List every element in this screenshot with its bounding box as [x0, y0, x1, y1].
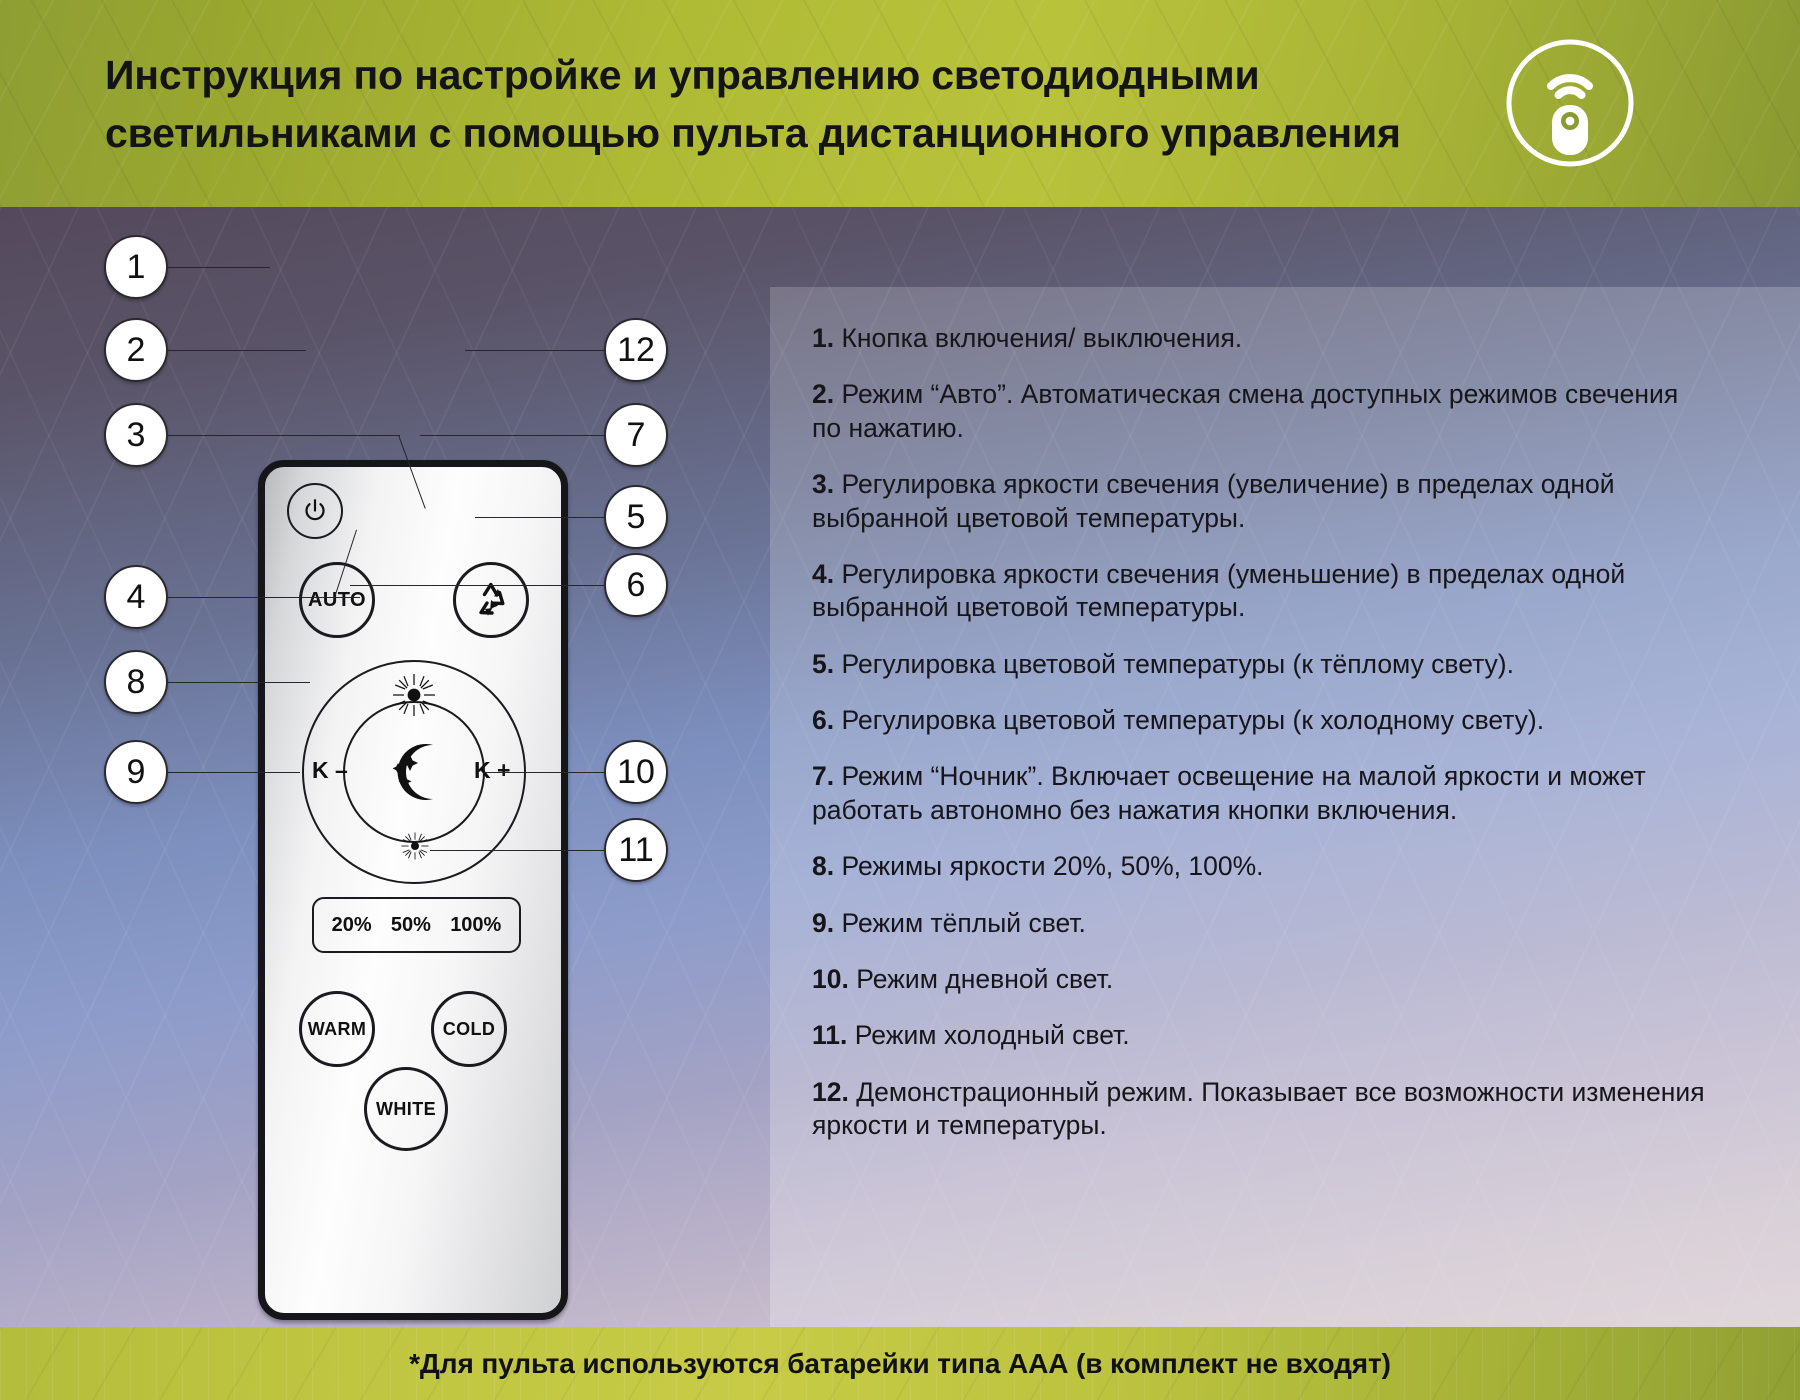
instruction-text-1: Кнопка включения/ выключения. [841, 323, 1242, 353]
leader-line-11 [430, 850, 610, 851]
brightness-preset-group[interactable]: 20% 50% 100% [312, 897, 521, 953]
instruction-item-10: 10. Режим дневной свет. [812, 963, 1712, 996]
leader-line-4 [160, 597, 360, 598]
remote-control-signal-icon [1495, 28, 1645, 178]
brightness-preset-100[interactable]: 100% [450, 914, 501, 937]
callout-marker-7[interactable]: 7 [604, 403, 668, 467]
callout-marker-2[interactable]: 2 [104, 318, 168, 382]
brightness-up-button[interactable] [391, 672, 437, 718]
leader-line-10 [484, 772, 608, 773]
header-bar: Инструкция по настройке и управлению све… [0, 0, 1800, 207]
callout-marker-10[interactable]: 10 [604, 740, 668, 804]
instruction-text-9: Режим тёплый свет. [841, 908, 1085, 938]
instruction-number-8: 8. [812, 851, 834, 881]
instruction-number-11: 11. [812, 1020, 847, 1050]
instruction-text-12: Демонстрационный режим. Показывает все в… [812, 1077, 1705, 1140]
brightness-preset-50[interactable]: 50% [391, 914, 431, 937]
callout-marker-1[interactable]: 1 [104, 235, 168, 299]
instruction-item-3: 3. Регулировка яркости свечения (увеличе… [812, 468, 1712, 535]
white-light-button[interactable]: WHITE [364, 1067, 448, 1151]
leader-line-3 [160, 435, 400, 436]
instruction-text-8: Режимы яркости 20%, 50%, 100%. [841, 851, 1263, 881]
instruction-item-6: 6. Регулировка цветовой температуры (к х… [812, 704, 1712, 737]
warm-button-label: WARM [308, 1019, 367, 1040]
footer-bar: *Для пульта используются батарейки типа … [0, 1327, 1800, 1400]
callout-marker-6[interactable]: 6 [604, 553, 668, 617]
leader-line-2 [160, 350, 306, 351]
instruction-text-10: Режим дневной свет. [856, 964, 1113, 994]
callout-marker-9[interactable]: 9 [104, 740, 168, 804]
brightness-preset-20[interactable]: 20% [332, 914, 372, 937]
instruction-text-5: Регулировка цветовой температуры (к тёпл… [841, 649, 1513, 679]
callout-marker-4[interactable]: 4 [104, 565, 168, 629]
instruction-item-1: 1. Кнопка включения/ выключения. [812, 322, 1712, 355]
callout-marker-5[interactable]: 5 [604, 485, 668, 549]
leader-line-12 [465, 350, 605, 351]
leader-line-1 [160, 267, 270, 268]
main-content-area: AUTO [0, 207, 1800, 1327]
leader-line-7 [420, 435, 610, 436]
callout-marker-12[interactable]: 12 [604, 318, 668, 382]
instruction-list: 1. Кнопка включения/ выключения. 2. Режи… [812, 322, 1712, 1165]
cold-light-button[interactable]: COLD [431, 991, 507, 1067]
instruction-item-9: 9. Режим тёплый свет. [812, 907, 1712, 940]
remote-control-device: AUTO [258, 460, 568, 1320]
leader-line-9 [160, 772, 300, 773]
instruction-number-7: 7. [812, 761, 834, 791]
instruction-item-7: 7. Режим “Ночник”. Включает освещение на… [812, 760, 1712, 827]
instruction-number-5: 5. [812, 649, 834, 679]
cold-button-label: COLD [443, 1019, 496, 1040]
instruction-number-9: 9. [812, 908, 834, 938]
instruction-number-4: 4. [812, 559, 834, 589]
instruction-item-5: 5. Регулировка цветовой температуры (к т… [812, 648, 1712, 681]
instruction-item-2: 2. Режим “Авто”. Автоматическая смена до… [812, 378, 1712, 445]
callout-marker-8[interactable]: 8 [104, 650, 168, 714]
instruction-text-4: Регулировка яркости свечения (уменьшение… [812, 559, 1625, 622]
callout-marker-11[interactable]: 11 [604, 818, 668, 882]
instruction-number-3: 3. [812, 469, 834, 499]
instruction-number-12: 12. [812, 1077, 849, 1107]
leader-line-5 [475, 517, 610, 518]
infographic-page: Инструкция по настройке и управлению све… [0, 0, 1800, 1400]
instruction-number-10: 10. [812, 964, 849, 994]
instruction-item-4: 4. Регулировка яркости свечения (уменьше… [812, 558, 1712, 625]
instruction-number-1: 1. [812, 323, 834, 353]
power-icon [300, 496, 330, 526]
power-button[interactable] [287, 483, 343, 539]
instruction-text-3: Регулировка яркости свечения (увеличение… [812, 469, 1615, 532]
instruction-text-6: Регулировка цветовой температуры (к холо… [841, 705, 1544, 735]
instruction-number-6: 6. [812, 705, 834, 735]
brightness-down-button[interactable] [400, 831, 430, 861]
callout-marker-3[interactable]: 3 [104, 403, 168, 467]
instruction-item-11: 11. Режим холодный свет. [812, 1019, 1712, 1052]
leader-line-8 [160, 682, 310, 683]
instruction-item-8: 8. Режимы яркости 20%, 50%, 100%. [812, 850, 1712, 883]
page-title-line-2: светильниками с помощью пульта дистанцио… [105, 104, 1535, 162]
instruction-text-11: Режим холодный свет. [855, 1020, 1130, 1050]
battery-note: *Для пульта используются батарейки типа … [409, 1348, 1391, 1380]
page-title-line-1: Инструкция по настройке и управлению све… [105, 46, 1535, 104]
auto-mode-button[interactable]: AUTO [299, 562, 375, 638]
warm-light-button[interactable]: WARM [299, 991, 375, 1067]
instruction-number-2: 2. [812, 379, 834, 409]
page-title: Инструкция по настройке и управлению све… [105, 46, 1535, 162]
demo-mode-button[interactable] [453, 562, 529, 638]
white-button-label: WHITE [376, 1099, 436, 1120]
instruction-item-12: 12. Демонстрационный режим. Показывает в… [812, 1076, 1712, 1143]
instruction-text-2: Режим “Авто”. Автоматическая смена досту… [812, 379, 1678, 442]
leader-line-6 [350, 585, 610, 586]
instruction-text-7: Режим “Ночник”. Включает освещение на ма… [812, 761, 1646, 824]
night-mode-button[interactable] [377, 733, 455, 811]
color-temp-decrease-button[interactable]: K – [312, 757, 348, 784]
color-temp-increase-button[interactable]: K + [474, 757, 510, 784]
